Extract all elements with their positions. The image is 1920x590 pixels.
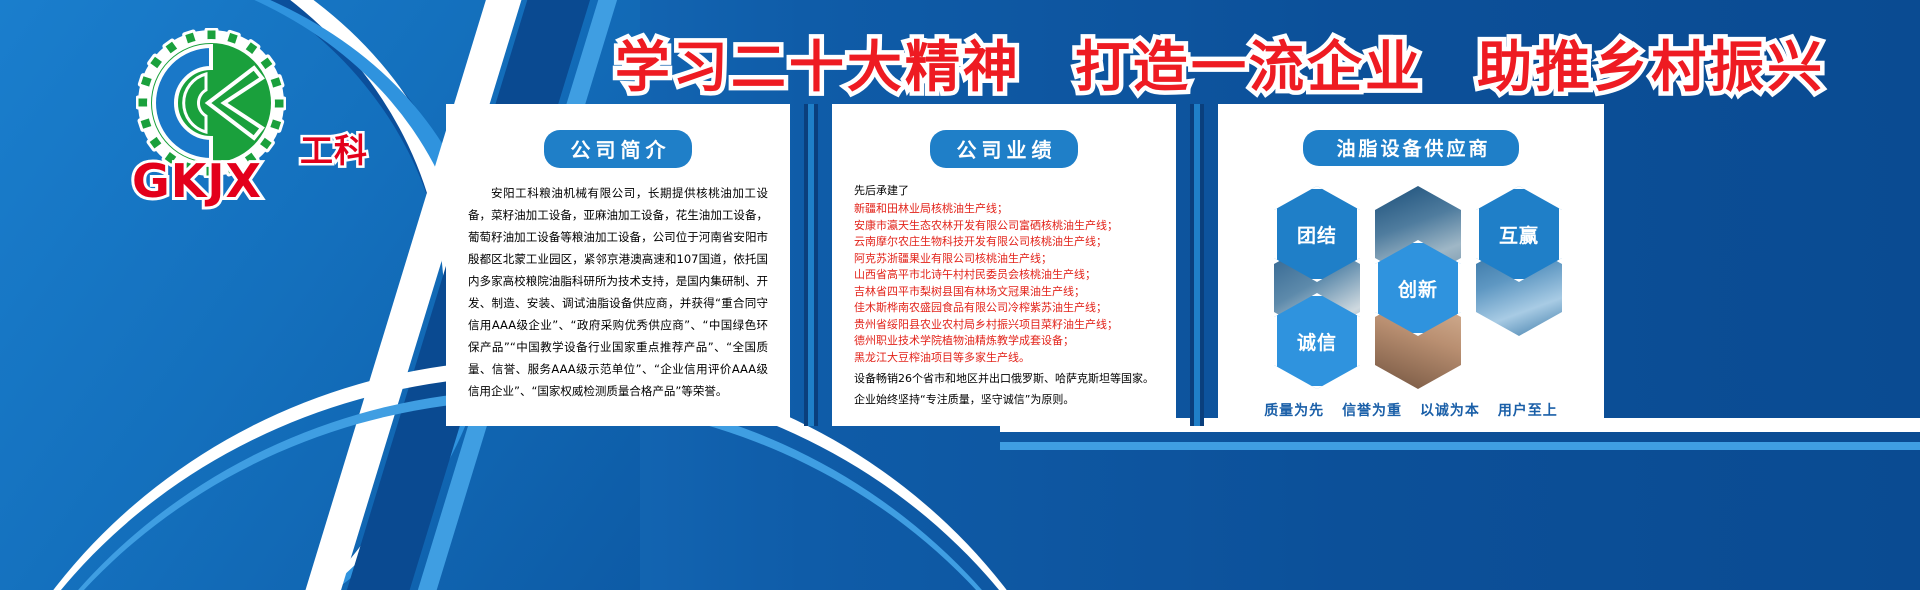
headline-part-1: 学习二十大精神 — [615, 35, 1021, 99]
poster-headline: 学习二十大精神 打造一流企业 助推乡村振兴 — [540, 22, 1900, 102]
slogan-part-1: 质量为先 — [1264, 403, 1324, 419]
panel-title-supplier: 油脂设备供应商 — [1303, 130, 1519, 166]
achievements-lead: 先后承建了 — [854, 182, 1154, 200]
achievement-item: 阿克苏浙疆果业有限公司核桃油生产线； — [854, 251, 1154, 268]
panel-title-company-intro: 公司简介 — [544, 130, 692, 168]
background-bottom-line-light — [1000, 442, 1920, 450]
panel-supplier: 油脂设备供应商 团结 互赢 创新 诚信 — [1218, 104, 1604, 426]
achievement-item: 云南摩尔农庄生物科技开发有限公司核桃油生产线； — [854, 234, 1154, 251]
achievement-item: 吉林省四平市梨树县国有林场文冠果油生产线； — [854, 284, 1154, 301]
panel-title-company-achievements: 公司业绩 — [930, 130, 1078, 168]
poster-board: 工科 GKJX 学习二十大精神 打造一流企业 助推乡村振兴 公司简介 安阳工科粮… — [0, 0, 1920, 590]
company-logo: 工科 GKJX — [112, 28, 362, 203]
slogan-part-3: 以诚为本 — [1420, 403, 1480, 419]
slogan-part-4: 用户至上 — [1498, 403, 1558, 419]
panel-divider-1 — [804, 104, 818, 426]
supplier-slogan: 质量为先 信誉为重 以诚为本 用户至上 — [1218, 400, 1604, 420]
logo-en-text: GKJX — [132, 154, 262, 208]
hexagon-label-text: 团结 — [1297, 221, 1337, 248]
company-intro-body: 安阳工科粮油机械有限公司，长期提供核桃油加工设备，菜籽油加工设备，亚麻油加工设备… — [468, 182, 768, 402]
achievement-item: 贵州省绥阳县农业农村局乡村振兴项目菜籽油生产线； — [854, 317, 1154, 334]
achievements-footer-line: 设备畅销26个省市和地区并出口俄罗斯、哈萨克斯坦等国家。 — [854, 370, 1154, 387]
panel-divider-2 — [1190, 104, 1204, 426]
achievement-item: 新疆和田林业局核桃油生产线； — [854, 201, 1154, 218]
achievement-item: 黑龙江大豆榨油项目等多家生产线。 — [854, 350, 1154, 367]
headline-part-2: 打造一流企业 — [1075, 35, 1423, 99]
achievement-item: 佳木斯桦南农盛园食品有限公司冷榨紫苏油生产线； — [854, 300, 1154, 317]
hexagon-label-text: 创新 — [1398, 275, 1438, 302]
achievement-item: 安康市瀛天生态农林开发有限公司富硒核桃油生产线； — [854, 218, 1154, 235]
hexagon-label-text: 诚信 — [1297, 328, 1337, 355]
hexagon-label-text: 互赢 — [1499, 221, 1539, 248]
hexagon-collage: 团结 互赢 创新 诚信 — [1240, 180, 1582, 390]
achievements-footer-line: 企业始终坚持“专注质量，坚守诚信”为原则。 — [854, 391, 1154, 408]
logo-cn-text: 工科 — [300, 124, 368, 172]
slogan-part-2: 信誉为重 — [1342, 403, 1402, 419]
achievement-item: 山西省高平市北诗午村村民委员会核桃油生产线； — [854, 267, 1154, 284]
headline-part-3: 助推乡村振兴 — [1477, 35, 1825, 99]
content-panels: 公司简介 安阳工科粮油机械有限公司，长期提供核桃油加工设备，菜籽油加工设备，亚麻… — [432, 104, 1884, 426]
achievement-item: 德州职业技术学院植物油精炼教学成套设备； — [854, 333, 1154, 350]
panel-company-intro: 公司简介 安阳工科粮油机械有限公司，长期提供核桃油加工设备，菜籽油加工设备，亚麻… — [446, 104, 790, 426]
panel-company-achievements: 公司业绩 先后承建了 新疆和田林业局核桃油生产线； 安康市瀛天生态农林开发有限公… — [832, 104, 1176, 426]
